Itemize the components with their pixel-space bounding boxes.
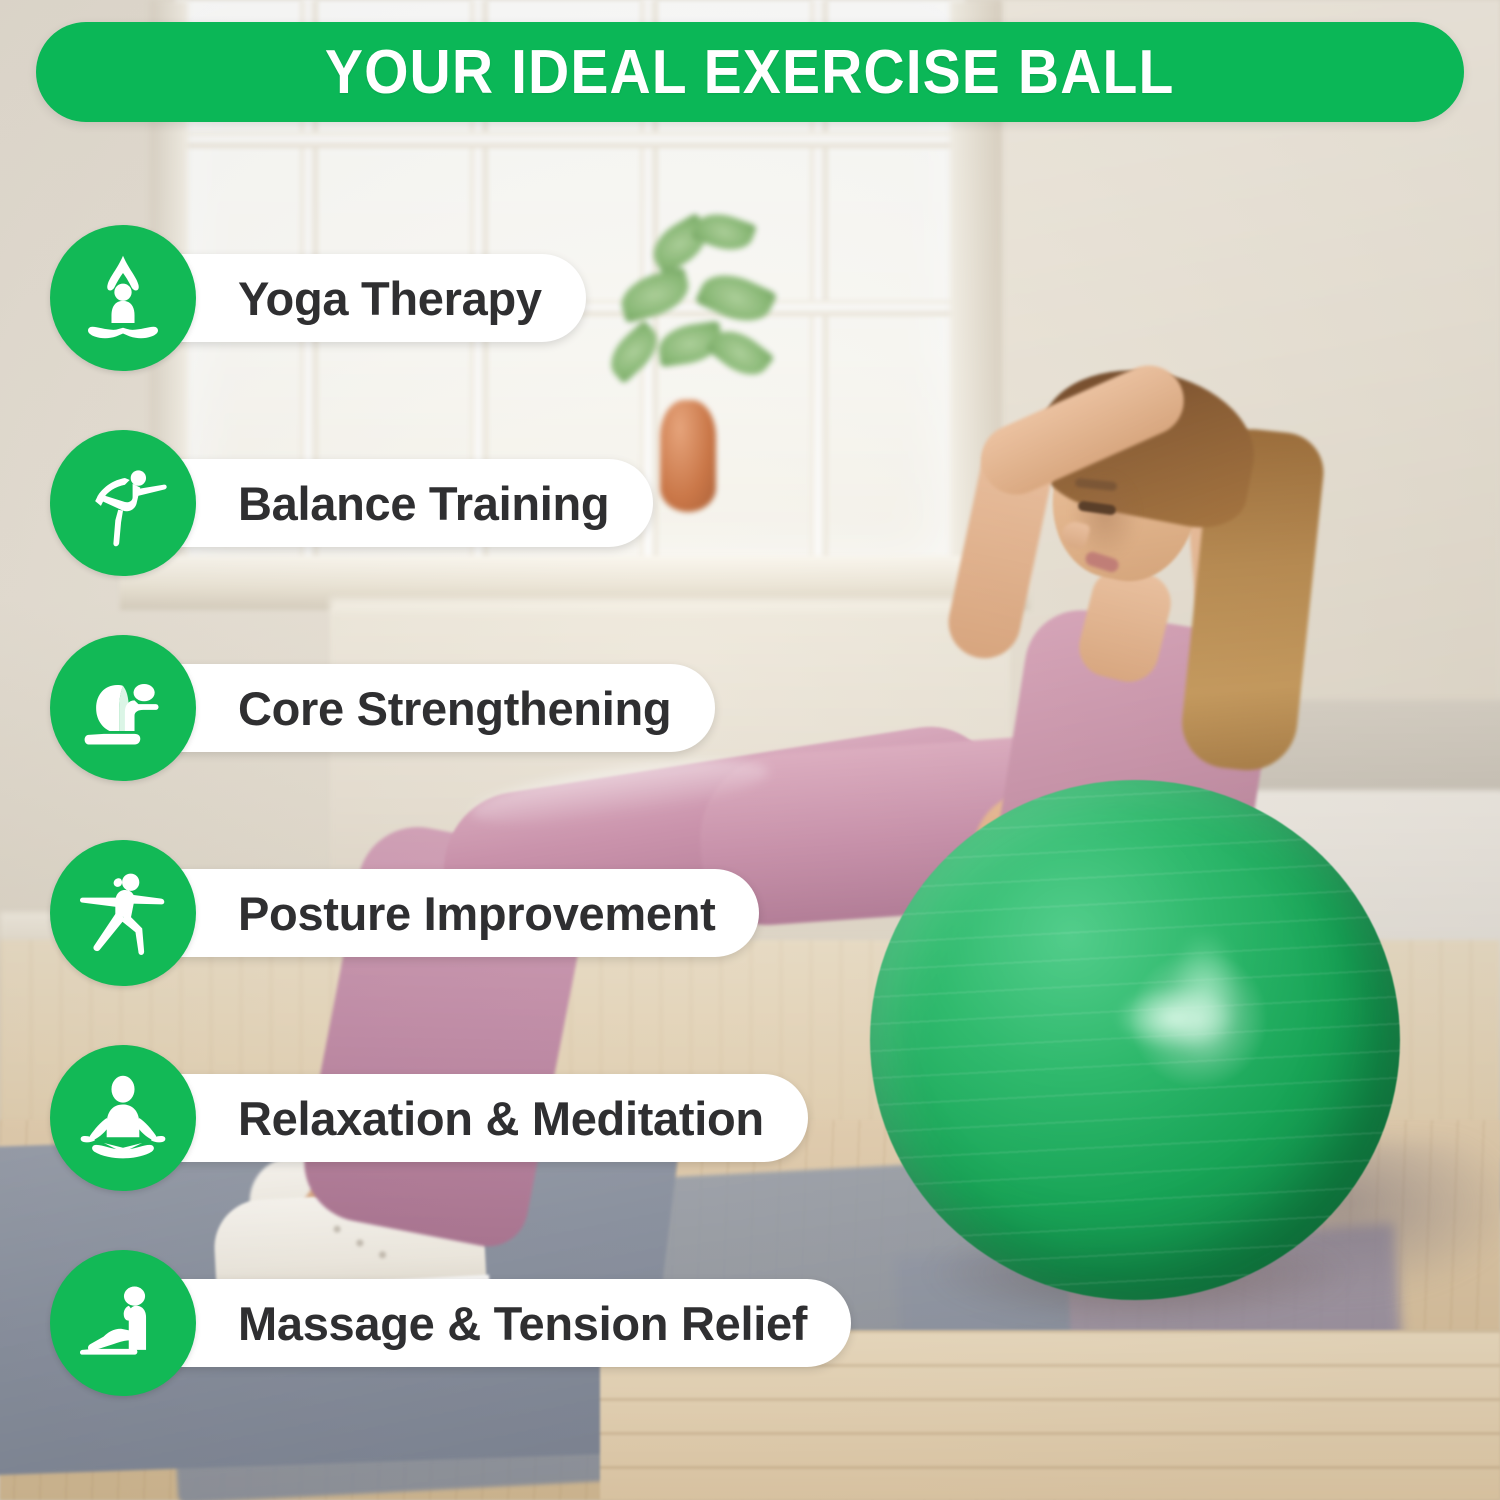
feature-pill: Yoga Therapy bbox=[178, 254, 586, 342]
feature-pill: Relaxation & Meditation bbox=[178, 1074, 808, 1162]
feature-item-posture-improvement[interactable]: Posture Improvement bbox=[50, 840, 759, 986]
feature-label: Posture Improvement bbox=[238, 886, 715, 941]
warrior-pose-icon bbox=[50, 840, 196, 986]
feature-pill: Balance Training bbox=[178, 459, 653, 547]
feature-pill: Massage & Tension Relief bbox=[178, 1279, 851, 1367]
feature-label: Balance Training bbox=[238, 476, 609, 531]
feature-label: Yoga Therapy bbox=[238, 271, 542, 326]
feature-item-core-strengthening[interactable]: Core Strengthening bbox=[50, 635, 715, 781]
massage-table-icon bbox=[50, 1250, 196, 1396]
feature-item-balance-training[interactable]: Balance Training bbox=[50, 430, 653, 576]
feature-label: Core Strengthening bbox=[238, 681, 671, 736]
feature-item-yoga-therapy[interactable]: Yoga Therapy bbox=[50, 225, 586, 371]
feature-item-relaxation-meditation[interactable]: Relaxation & Meditation bbox=[50, 1045, 808, 1191]
feature-label: Relaxation & Meditation bbox=[238, 1091, 764, 1146]
feature-item-massage-tension-relief[interactable]: Massage & Tension Relief bbox=[50, 1250, 851, 1396]
feature-label: Massage & Tension Relief bbox=[238, 1296, 807, 1351]
feature-list: Yoga Therapy Bala bbox=[0, 0, 1500, 1500]
lotus-meditation-icon bbox=[50, 1045, 196, 1191]
feature-pill: Core Strengthening bbox=[178, 664, 715, 752]
core-crunch-icon bbox=[50, 635, 196, 781]
feature-pill: Posture Improvement bbox=[178, 869, 759, 957]
infographic-canvas: YOUR IDEAL EXERCISE BALL Yoga Therapy bbox=[0, 0, 1500, 1500]
yoga-arms-up-icon bbox=[50, 225, 196, 371]
balance-pose-icon bbox=[50, 430, 196, 576]
